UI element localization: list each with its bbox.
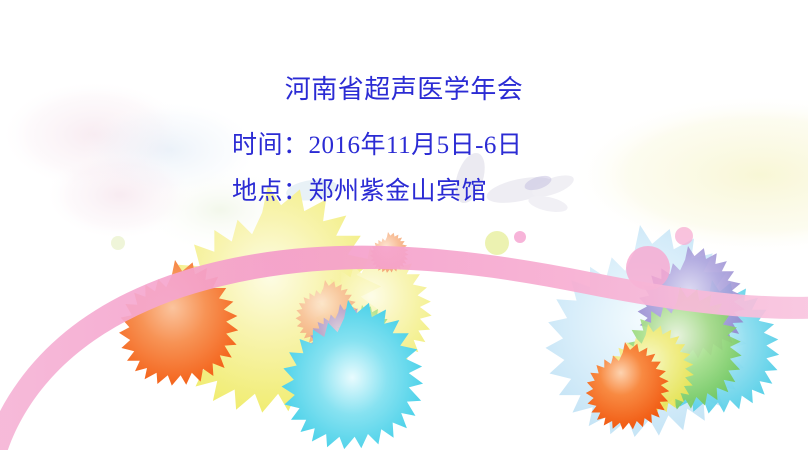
small-pink-dot	[514, 231, 526, 243]
banner-place-line: 地点：郑州紫金山宾馆	[232, 176, 487, 208]
banner-time-line: 时间：2016年11月5日-6日	[232, 130, 522, 162]
pale-green-dot	[111, 236, 125, 250]
decorative-background-art	[0, 0, 808, 450]
conference-banner: 河南省超声医学年会 时间：2016年11月5日-6日 地点：郑州紫金山宾馆	[0, 0, 808, 450]
yellow-green-dot	[485, 231, 509, 255]
medium-pink-dot	[675, 227, 693, 245]
banner-title: 河南省超声医学年会	[0, 74, 808, 106]
